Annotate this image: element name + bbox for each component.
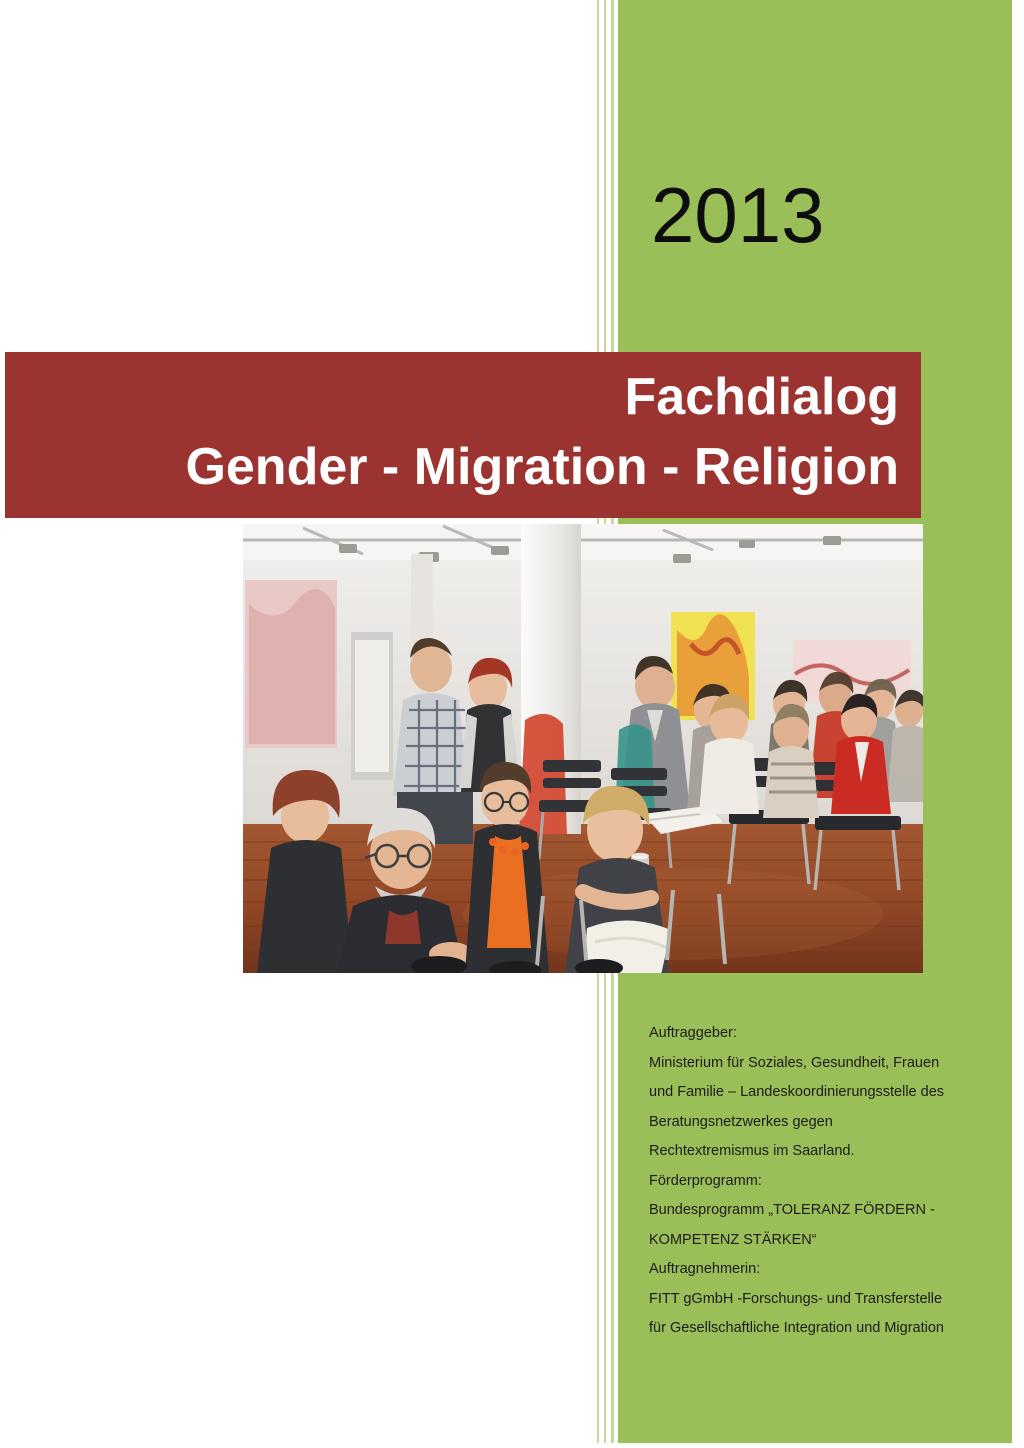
cover-photo [243,524,923,973]
cover-page: 2013 Fachdialog Gender - Migration - Rel… [0,0,1024,1448]
cover-year: 2013 [651,176,825,254]
imprint-line: und Familie – Landeskoordinierungsstelle… [649,1078,994,1108]
imprint-line: Ministerium für Soziales, Gesundheit, Fr… [649,1049,994,1079]
imprint-line: FITT gGmbH -Forschungs- und Transferstel… [649,1285,994,1315]
title-text-group: Fachdialog Gender - Migration - Religion [185,362,899,502]
imprint-line: Beratungsnetzwerkes gegen [649,1108,994,1138]
imprint-line: Auftraggeber: [649,1019,994,1049]
imprint-block: Auftraggeber: Ministerium für Soziales, … [649,1019,994,1344]
title-line-1: Fachdialog [185,362,899,432]
imprint-line: Rechtextremismus im Saarland. [649,1137,994,1167]
imprint-line: Förderprogramm: [649,1167,994,1197]
imprint-line: für Gesellschaftliche Integration und Mi… [649,1314,994,1344]
imprint-line: Auftragnehmerin: [649,1255,994,1285]
imprint-line: KOMPETENZ STÄRKEN“ [649,1226,994,1256]
title-line-2: Gender - Migration - Religion [185,432,899,502]
imprint-line: Bundesprogramm „TOLERANZ FÖRDERN - [649,1196,994,1226]
title-banner: Fachdialog Gender - Migration - Religion [5,352,921,518]
